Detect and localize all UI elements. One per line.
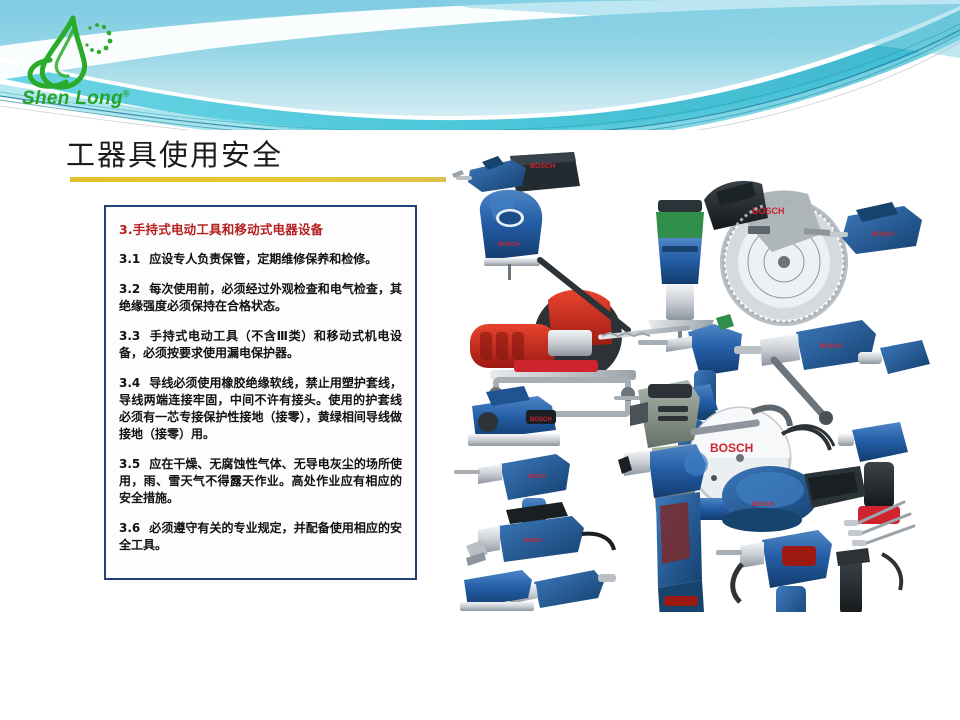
clause-number: 3.1	[119, 252, 140, 266]
clause-3-2: 3.2每次使用前，必须经过外观检查和电气检查，其绝缘强度必须保持在合格状态。	[119, 281, 402, 315]
cordless-screwdriver	[836, 548, 901, 612]
planer: BOSCH	[468, 386, 560, 446]
page-title: 工器具使用安全	[66, 132, 283, 174]
svg-text:BOSCH: BOSCH	[498, 242, 520, 248]
svg-text:BOSCH: BOSCH	[872, 232, 894, 238]
mini-planer	[460, 570, 534, 611]
circular-saw: BOSCH	[704, 181, 846, 324]
angle-grinder	[618, 444, 708, 612]
metal-shear: BOSCH	[466, 502, 614, 566]
sds-rotary-hammer	[716, 530, 832, 612]
registered-trademark-icon: ®	[123, 89, 130, 99]
svg-text:BOSCH: BOSCH	[752, 502, 774, 508]
clause-3-1: 3.1应设专人负责保管，定期维修保养和检修。	[119, 251, 402, 268]
clause-3-6: 3.6必须遵守有关的专业规定，并配备使用相应的安全工具。	[119, 520, 402, 554]
shen-long-logo: Shen Long®	[18, 14, 130, 110]
svg-text:BOSCH: BOSCH	[524, 538, 542, 544]
svg-text:BOSCH: BOSCH	[528, 474, 546, 480]
slide-canvas: Shen Long® 工器具使用安全 3.手持式电动工具和移动式电器设备 3.1…	[0, 0, 960, 720]
clause-3-4: 3.4导线必须使用橡胶绝缘软线，禁止用塑护套线，导线两端连接牢固，中间不许有接头…	[119, 375, 402, 443]
clause-3-5: 3.5应在干燥、无腐蚀性气体、无导电灰尘的场所使用，雨、雪天气不得露天作业。高处…	[119, 456, 402, 507]
clause-number: 3.4	[119, 376, 140, 390]
clause-text: 每次使用前，必须经过外观检查和电气检查，其绝缘强度必须保持在合格状态。	[119, 282, 402, 313]
power-tools-illustration: BOSCH BOSCH	[452, 134, 952, 612]
clause-number: 3.5	[119, 457, 140, 471]
clause-number: 3.2	[119, 282, 140, 296]
svg-text:BOSCH: BOSCH	[530, 163, 555, 170]
clause-text: 导线必须使用橡胶绝缘软线，禁止用塑护套线，导线两端连接牢固，中间不许有接头。使用…	[119, 376, 402, 441]
clause-number: 3.6	[119, 521, 140, 535]
clause-text: 手持式电动工具（不含Ⅲ类）和移动式机电设备，必须按要求使用漏电保护器。	[119, 329, 402, 360]
jigsaw: BOSCH	[480, 190, 542, 280]
clause-text: 应在干燥、无腐蚀性气体、无导电灰尘的场所使用，雨、雪天气不得露天作业。高处作业应…	[119, 457, 402, 505]
clause-text: 必须遵守有关的专业规定，并配备使用相应的安全工具。	[119, 521, 402, 552]
logo-wordmark-text: Shen Long	[22, 88, 123, 109]
clause-3-3: 3.3手持式电动工具（不含Ⅲ类）和移动式机电设备，必须按要求使用漏电保护器。	[119, 328, 402, 362]
plunge-router	[648, 200, 714, 344]
svg-text:BOSCH: BOSCH	[820, 344, 842, 350]
section-heading: 3.手持式电动工具和移动式电器设备	[119, 219, 402, 238]
title-underline-rule	[70, 177, 446, 182]
logo-wordmark: Shen Long®	[22, 88, 130, 110]
content-box: 3.手持式电动工具和移动式电器设备 3.1应设专人负责保管，定期维修保养和检修。…	[104, 205, 417, 580]
stars-decoration	[85, 23, 112, 54]
clause-number: 3.3	[119, 329, 140, 343]
header-banner	[0, 0, 960, 130]
power-tools-collage: BOSCH BOSCH	[452, 134, 952, 612]
header-wave-graphic	[0, 0, 960, 130]
svg-text:BOSCH: BOSCH	[530, 417, 552, 423]
water-drop-leaf-icon	[18, 14, 130, 92]
clause-text: 应设专人负责保管，定期维修保养和检修。	[149, 252, 377, 266]
svg-text:BOSCH: BOSCH	[710, 441, 753, 455]
